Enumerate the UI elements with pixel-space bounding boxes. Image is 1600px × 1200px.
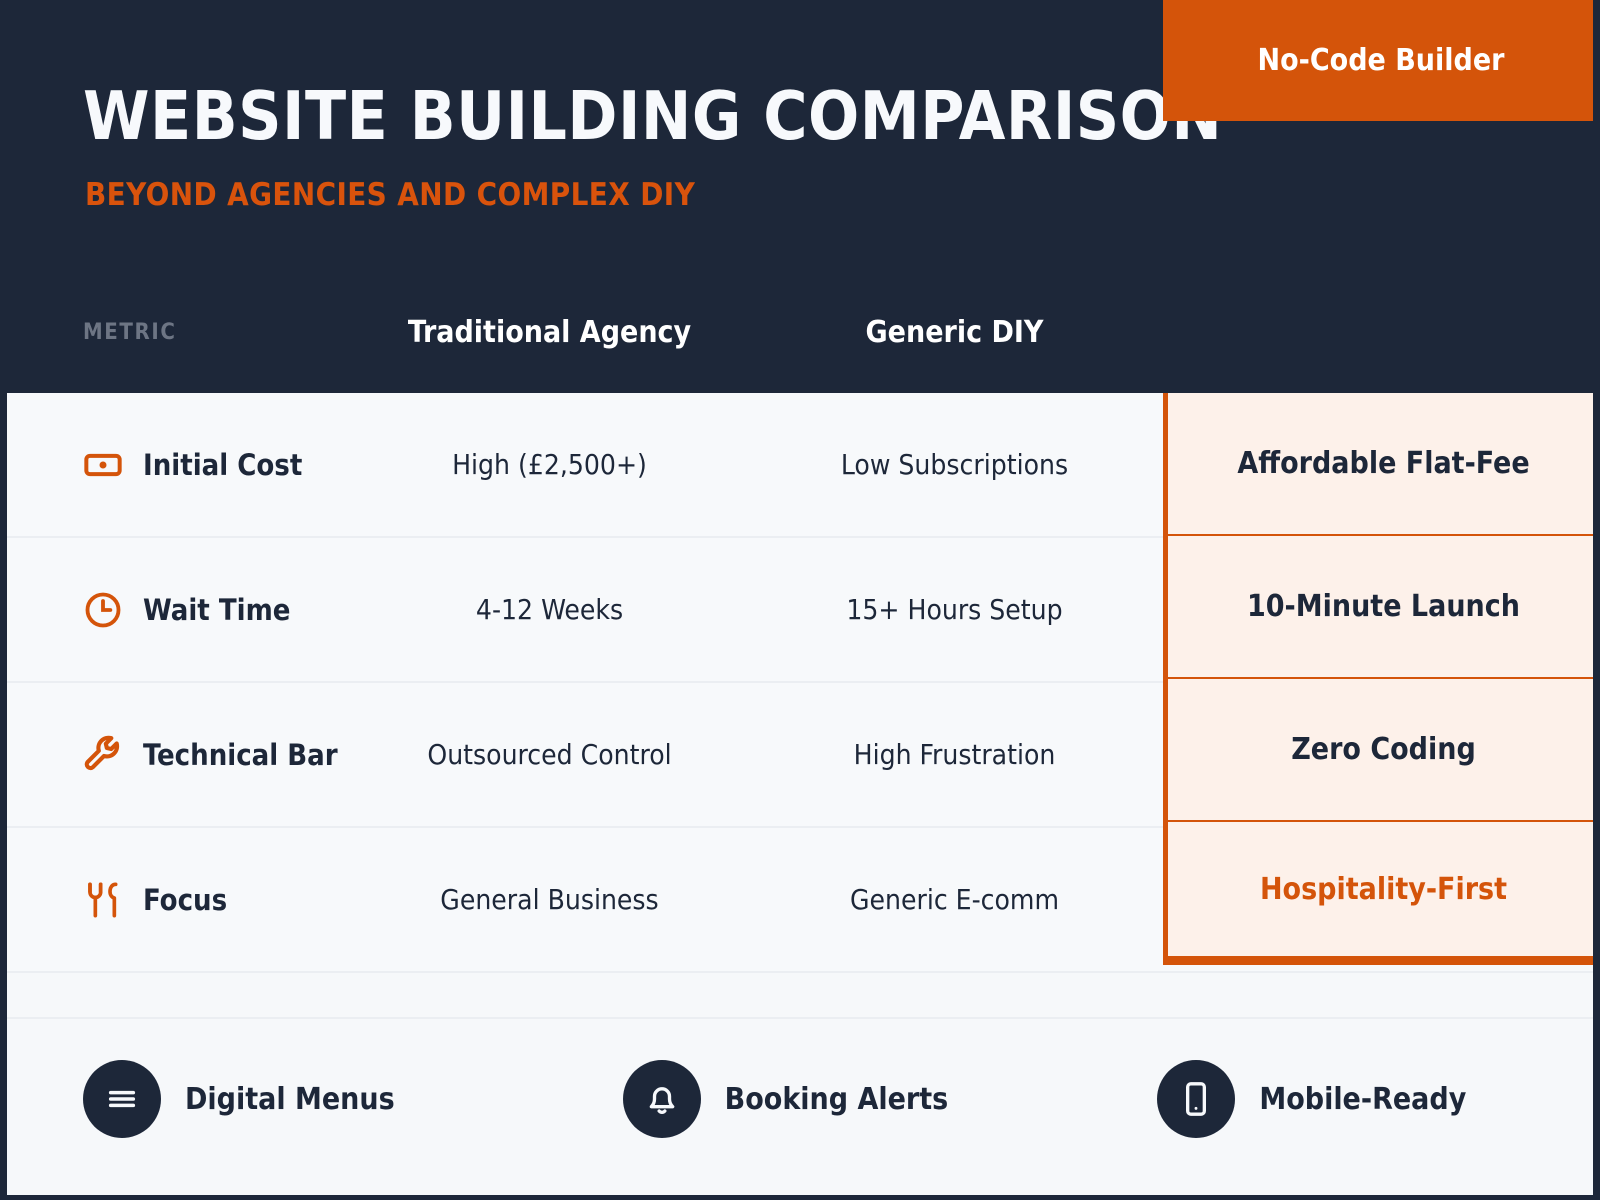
metric-cell: Wait Time: [7, 590, 347, 630]
cell-traditional-agency: 4-12 Weeks: [347, 593, 752, 626]
metric-label: Focus: [143, 883, 227, 917]
metric-cell: Focus: [7, 880, 347, 920]
column-header-no-code-builder: No-Code Builder: [1163, 0, 1599, 121]
badge-digital-menus: Digital Menus: [83, 1060, 443, 1138]
highlight-column: Affordable Flat-Fee 10-Minute Launch Zer…: [1163, 393, 1599, 965]
hero-header: WEBSITE BUILDING COMPARISON BEYOND AGENC…: [7, 0, 1593, 393]
banknote-icon: [83, 445, 123, 485]
comparison-infographic: WEBSITE BUILDING COMPARISON BEYOND AGENC…: [0, 0, 1600, 1200]
highlight-cell-initial-cost: Affordable Flat-Fee: [1168, 393, 1599, 536]
cell-generic-diy: Generic E-comm: [752, 883, 1157, 916]
menu-icon: [83, 1060, 161, 1138]
badge-mobile-ready: Mobile-Ready: [982, 1060, 1517, 1138]
cell-traditional-agency: General Business: [347, 883, 752, 916]
wrench-icon: [83, 735, 123, 775]
highlight-cell-wait-time: 10-Minute Launch: [1168, 536, 1599, 679]
badge-label: Mobile-Ready: [1259, 1082, 1466, 1117]
footer-badges: Digital Menus Booking Alerts Mobile-Read…: [7, 1019, 1593, 1179]
section-divider: [7, 973, 1593, 1019]
column-header-generic-diy: Generic DIY: [752, 315, 1157, 350]
cell-traditional-agency: High (£2,500+): [347, 448, 752, 481]
badge-label: Booking Alerts: [725, 1082, 949, 1117]
metric-cell: Technical Bar: [7, 735, 347, 775]
bell-icon: [623, 1060, 701, 1138]
utensils-icon: [83, 880, 123, 920]
page-subtitle: BEYOND AGENCIES AND COMPLEX DIY: [85, 176, 695, 214]
comparison-table: Initial Cost High (£2,500+) Low Subscrip…: [7, 393, 1593, 973]
badge-label: Digital Menus: [185, 1082, 395, 1117]
cell-generic-diy: 15+ Hours Setup: [752, 593, 1157, 626]
column-header-traditional-agency: Traditional Agency: [347, 315, 752, 350]
table-column-headers: METRIC Traditional Agency Generic DIY: [7, 272, 1593, 393]
clock-icon: [83, 590, 123, 630]
metric-label: Wait Time: [143, 593, 290, 627]
page-title: WEBSITE BUILDING COMPARISON: [83, 76, 1222, 156]
mobile-icon: [1157, 1060, 1235, 1138]
metric-label: Technical Bar: [143, 738, 338, 772]
cell-traditional-agency: Outsourced Control: [347, 738, 752, 771]
metric-cell: Initial Cost: [7, 445, 347, 485]
badge-booking-alerts: Booking Alerts: [443, 1060, 983, 1138]
highlight-cell-focus: Hospitality-First: [1168, 822, 1599, 965]
highlight-cell-technical-bar: Zero Coding: [1168, 679, 1599, 822]
column-header-metric: METRIC: [7, 320, 347, 345]
metric-label: Initial Cost: [143, 448, 302, 482]
cell-generic-diy: High Frustration: [752, 738, 1157, 771]
cell-generic-diy: Low Subscriptions: [752, 448, 1157, 481]
